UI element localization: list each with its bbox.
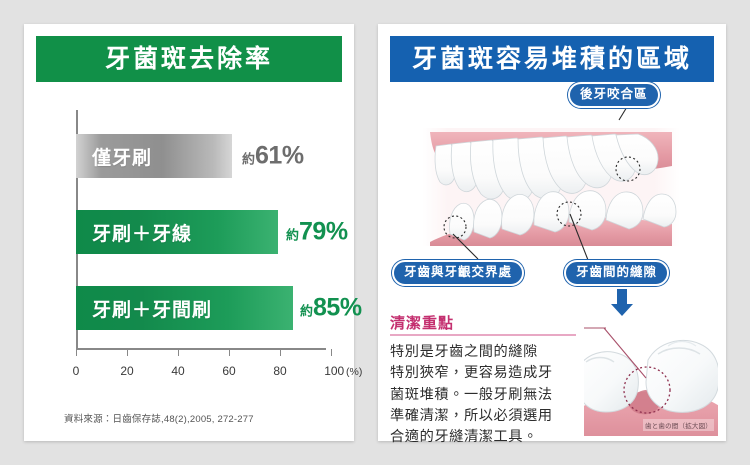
focus-line-2: 特別狹窄，更容易造成牙 xyxy=(390,363,582,384)
focus-line-5: 合適的牙縫清潔工具。 xyxy=(390,427,582,448)
bar-value-percent-brush-interdental: % xyxy=(340,294,362,322)
bar-value-brush-only: 約61% xyxy=(242,142,304,171)
bar-value-percent-brush-only: % xyxy=(282,142,304,170)
bar-value-percent-brush-floss: % xyxy=(326,218,348,246)
x-tick-100 xyxy=(331,349,332,356)
chart-x-axis xyxy=(76,348,326,350)
x-tick-60 xyxy=(229,349,230,356)
cleaning-focus-divider xyxy=(390,334,576,336)
infographic-stage: 牙菌斑去除率 0 20 40 60 80 100 (%) 僅牙刷 xyxy=(0,0,750,465)
callout-interdental-area: 牙齒間的縫隙 xyxy=(564,260,669,286)
magnified-teeth-svg xyxy=(584,316,718,436)
x-tick-0 xyxy=(76,349,77,356)
bar-row-brush-only: 僅牙刷 約61% xyxy=(76,134,342,178)
bar-value-approx-brush-only: 約 xyxy=(242,152,255,167)
x-tick-label-20: 20 xyxy=(120,364,133,378)
bar-label-brush-interdental: 牙刷＋牙間刷 xyxy=(92,295,212,322)
focus-line-1: 特別是牙齒之間的縫隙 xyxy=(390,342,582,363)
bar-value-approx-brush-floss: 約 xyxy=(286,228,299,243)
bar-chart: 0 20 40 60 80 100 (%) 僅牙刷 約61% 牙刷＋牙線 xyxy=(36,96,342,386)
callout-gumline-area: 牙齒與牙齦交界處 xyxy=(392,260,524,286)
x-tick-80 xyxy=(280,349,281,356)
down-arrow-icon xyxy=(610,289,634,317)
x-tick-label-40: 40 xyxy=(171,364,184,378)
x-tick-label-100: 100 xyxy=(324,364,344,378)
bar-value-brush-floss: 約79% xyxy=(286,218,348,247)
right-panel-header: 牙菌斑容易堆積的區域 xyxy=(390,36,714,82)
bar-value-number-brush-interdental: 85 xyxy=(313,294,340,322)
bar-brush-floss: 牙刷＋牙線 xyxy=(76,210,278,254)
callout-occlusal-area: 後牙咬合區 xyxy=(568,82,660,108)
x-tick-label-60: 60 xyxy=(222,364,235,378)
interdental-gap-magnified-illustration xyxy=(584,316,718,436)
cleaning-focus-title: 清潔重點 xyxy=(390,312,454,333)
bar-row-brush-floss: 牙刷＋牙線 約79% xyxy=(76,210,342,254)
focus-line-3: 菌斑堆積。一般牙刷無法 xyxy=(390,385,582,406)
x-axis-unit-label: (%) xyxy=(346,366,362,378)
x-tick-label-0: 0 xyxy=(73,364,80,378)
bar-label-brush-floss: 牙刷＋牙線 xyxy=(92,219,192,246)
bar-label-brush-only: 僅牙刷 xyxy=(92,143,152,170)
bar-value-number-brush-floss: 79 xyxy=(299,218,326,246)
teeth-side-view-illustration xyxy=(422,122,680,254)
chart-source-citation: 資料來源：日齒保存誌,48(2),2005, 272-277 xyxy=(64,411,254,425)
plaque-removal-chart-card: 牙菌斑去除率 0 20 40 60 80 100 (%) 僅牙刷 xyxy=(24,24,354,441)
x-tick-20 xyxy=(127,349,128,356)
cleaning-focus-body: 特別是牙齒之間的縫隙 特別狹窄，更容易造成牙 菌斑堆積。一般牙刷無法 準確清潔，… xyxy=(390,342,582,448)
x-tick-40 xyxy=(178,349,179,356)
x-tick-label-80: 80 xyxy=(273,364,286,378)
plaque-accumulation-areas-card: 牙菌斑容易堆積的區域 xyxy=(378,24,726,441)
bar-row-brush-interdental: 牙刷＋牙間刷 約85% xyxy=(76,286,342,330)
magnified-illustration-caption: 歯と歯の間（拡大図） xyxy=(643,419,714,431)
magnified-right-molar xyxy=(646,341,718,413)
focus-line-4: 準確清潔，所以必須選用 xyxy=(390,406,582,427)
left-panel-header: 牙菌斑去除率 xyxy=(36,36,342,82)
bar-brush-interdental: 牙刷＋牙間刷 xyxy=(76,286,293,330)
bar-brush-only: 僅牙刷 xyxy=(76,134,232,178)
teeth-svg xyxy=(422,122,680,254)
bar-value-brush-interdental: 約85% xyxy=(300,294,362,323)
bar-value-number-brush-only: 61 xyxy=(255,142,282,170)
bar-value-approx-brush-interdental: 約 xyxy=(300,304,313,319)
